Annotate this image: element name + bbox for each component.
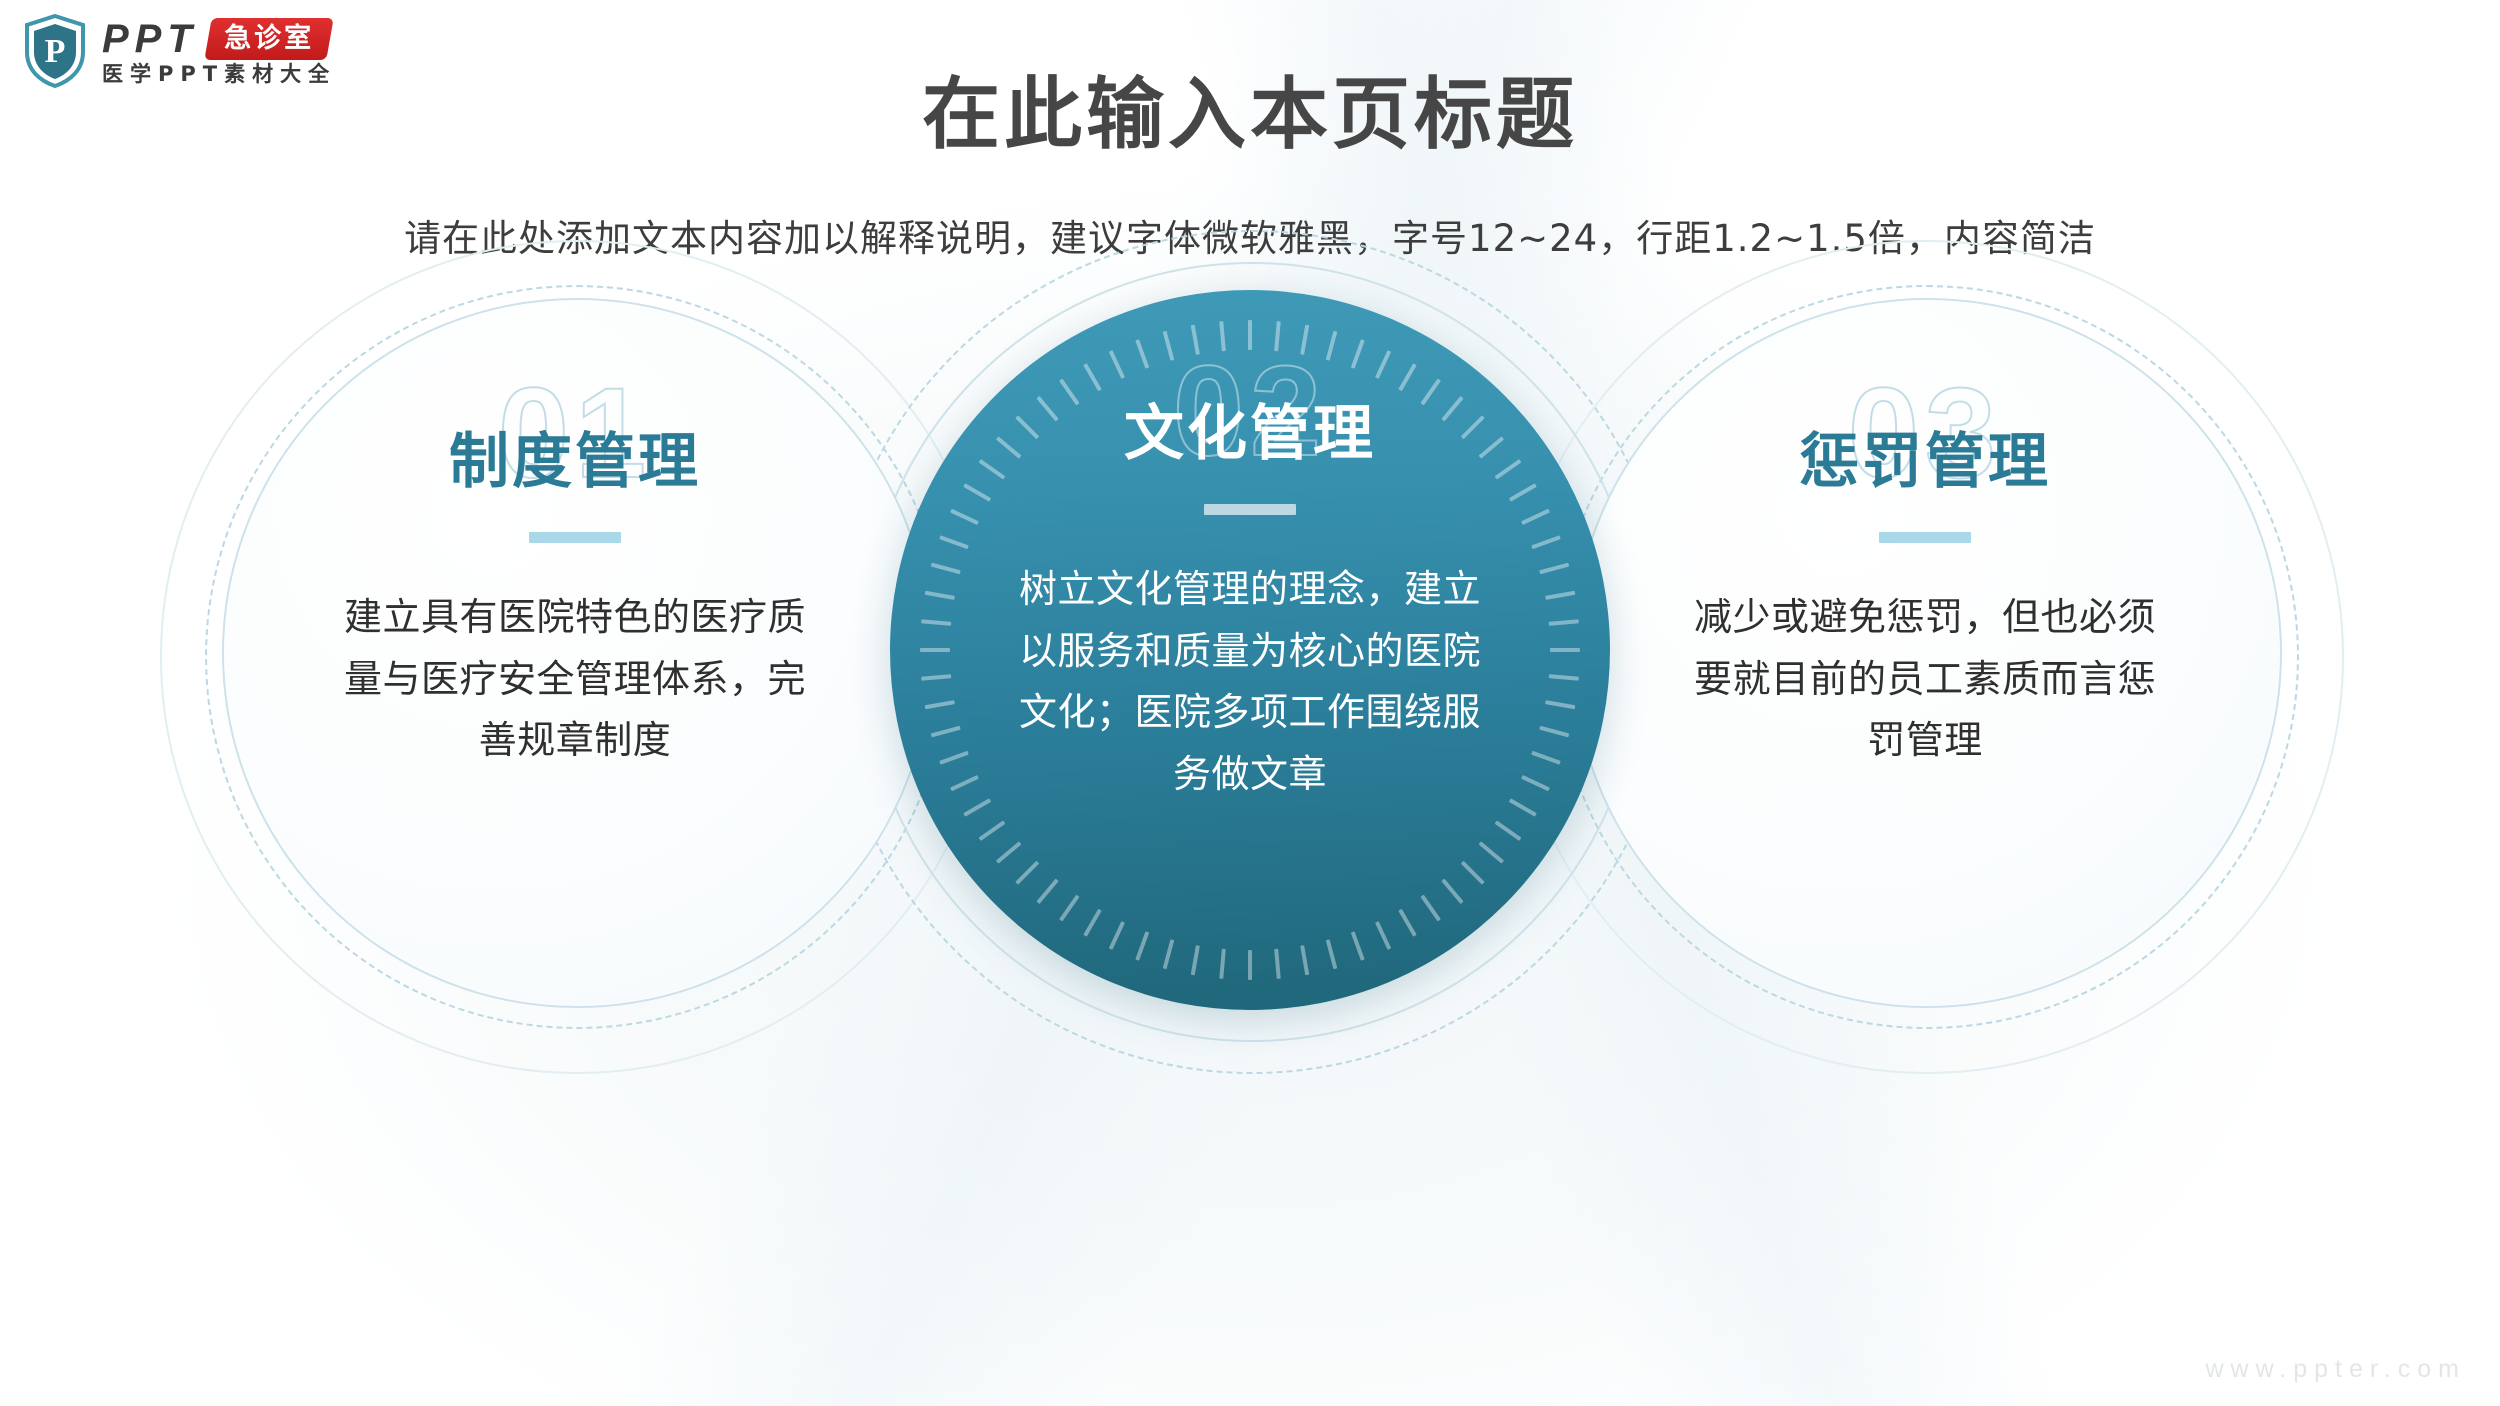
site-watermark: www.ppter.com [2205,1355,2466,1384]
tick-mark [1420,895,1440,922]
tick-mark [1015,861,1039,885]
tick-mark [996,841,1022,863]
tick-mark [1274,949,1281,979]
tick-mark [1274,321,1281,351]
card-1-divider [529,532,621,543]
tick-mark [1059,895,1079,922]
tick-mark [1461,861,1485,885]
card-1-title: 制度管理 [240,432,910,492]
tick-mark [1219,949,1226,979]
page-title: 在此输入本页标题 [0,52,2500,164]
card-2: 02 文化管理 树立文化管理的理念，建立以服务和质量为核心的医院文化；医院多项工… [890,348,1610,805]
tick-mark [1375,921,1391,950]
card-2-body: 树立文化管理的理念，建立以服务和质量为核心的医院文化；医院多项工作围绕服务做文章 [890,559,1610,805]
card-3-divider [1879,532,1971,543]
diagram-stage: 01 制度管理 建立具有医院特色的医疗质量与医疗安全管理体系，完善规章制度 03… [0,300,2500,1330]
tick-mark [1248,320,1252,350]
tick-mark [1398,909,1416,937]
tick-mark [1036,879,1058,905]
tick-mark [1083,909,1101,937]
logo-badge-label: 急诊室 [224,25,314,52]
tick-mark [1191,945,1200,975]
card-2-divider [1204,504,1296,515]
tick-mark [1326,939,1338,969]
tick-mark [1495,820,1522,840]
tick-mark [979,820,1006,840]
tick-mark [1441,879,1463,905]
tick-mark [1109,921,1125,950]
card-3: 03 惩罚管理 减少或避免惩罚，但也必须要就目前的员工素质而言惩罚管理 [1590,370,2260,772]
tick-mark [1163,939,1175,969]
card-1: 01 制度管理 建立具有医院特色的医疗质量与医疗安全管理体系，完善规章制度 [240,370,910,772]
tick-mark [1248,950,1252,980]
tick-mark [1479,841,1505,863]
card-1-body: 建立具有医院特色的医疗质量与医疗安全管理体系，完善规章制度 [240,587,910,772]
card-2-title: 文化管理 [890,404,1610,464]
tick-mark [1219,321,1226,351]
tick-mark [1300,945,1309,975]
card-3-body: 减少或避免惩罚，但也必须要就目前的员工素质而言惩罚管理 [1590,587,2260,772]
card-3-title: 惩罚管理 [1590,432,2260,492]
tick-mark [1135,931,1149,961]
tick-mark [1351,931,1365,961]
